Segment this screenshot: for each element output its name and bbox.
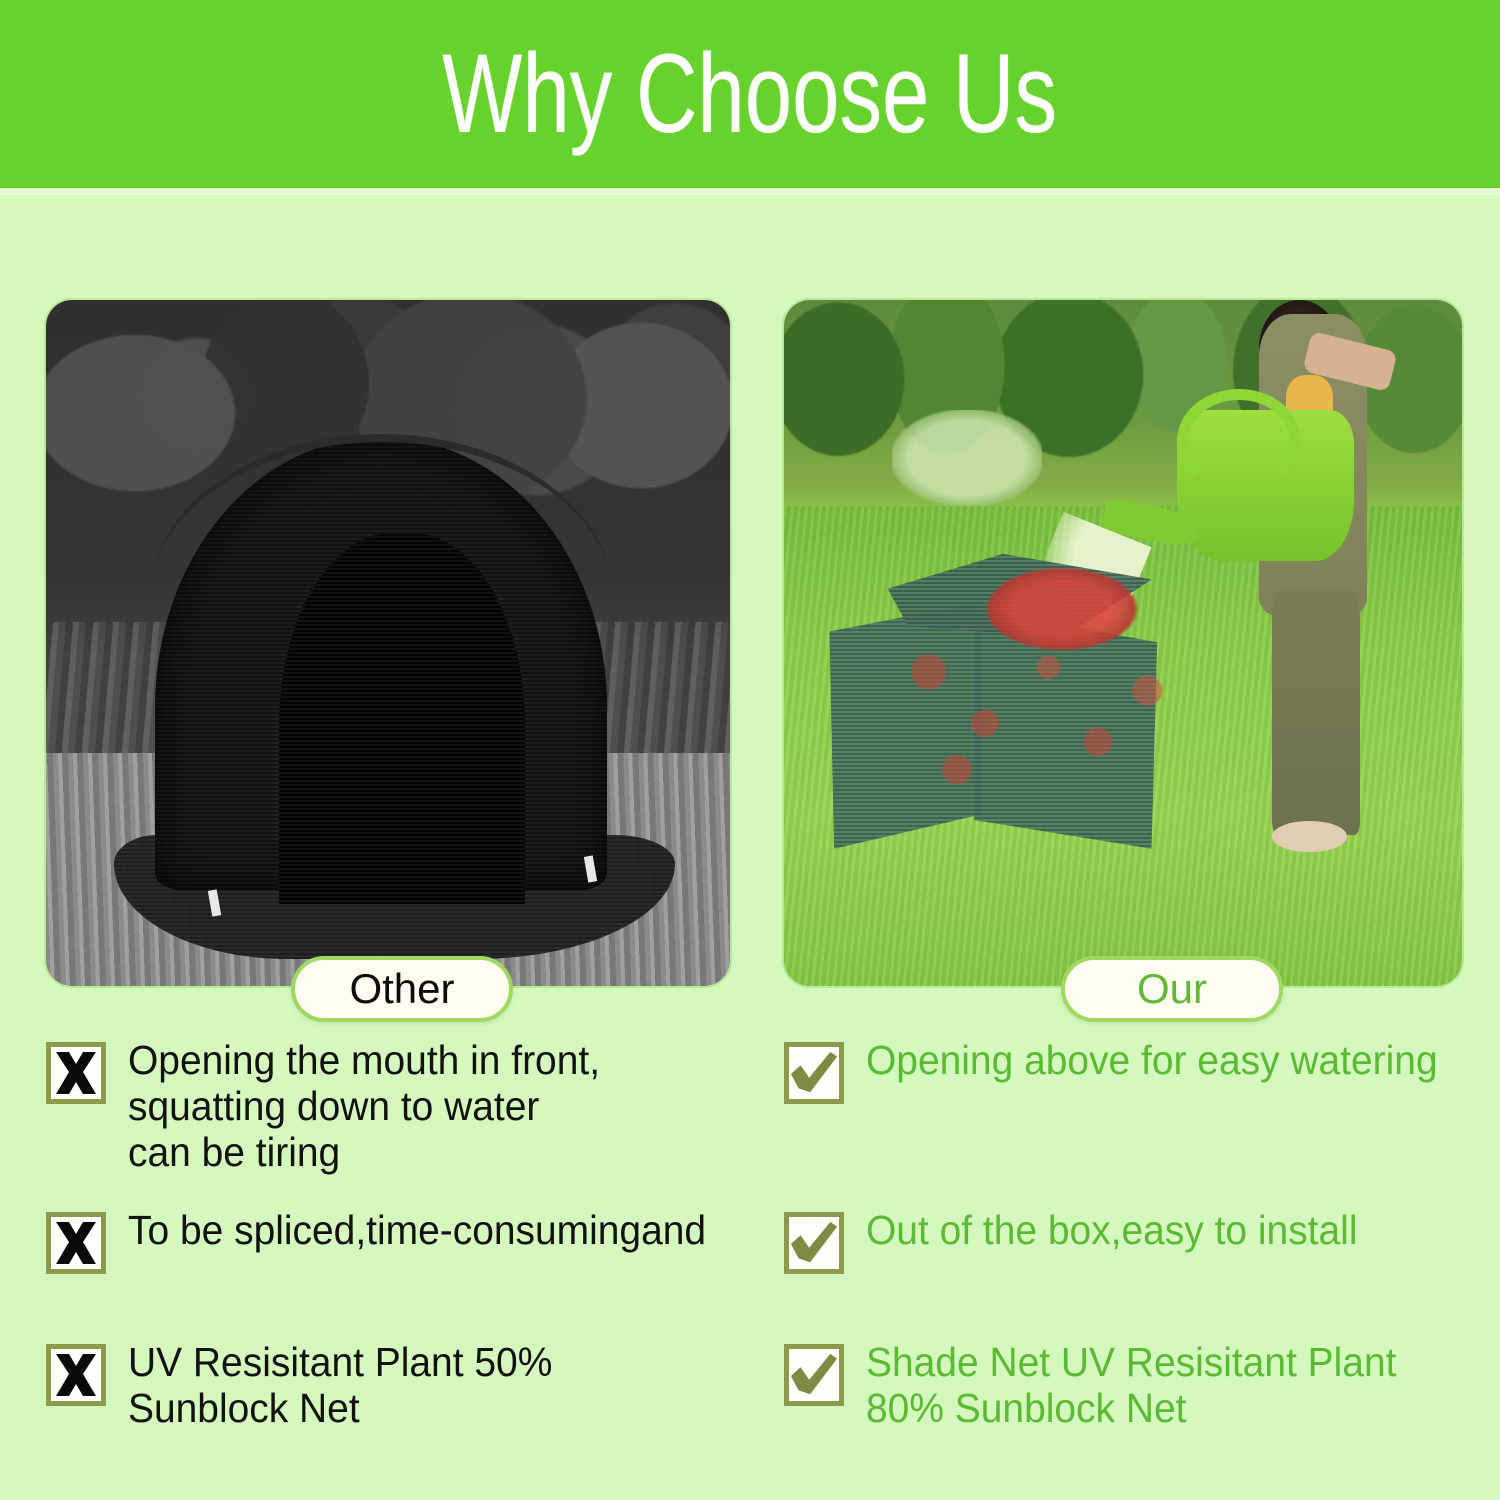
label-badge-our-text: Our <box>1137 968 1207 1010</box>
banner-underline <box>0 188 1500 195</box>
person-legs <box>1272 588 1360 835</box>
x-mark-icon <box>46 1212 106 1274</box>
x-mark-icon <box>46 1344 106 1406</box>
check-mark-icon <box>784 1344 844 1406</box>
feature-text: Out of the box,easy to install <box>866 1208 1357 1254</box>
check-mark-icon <box>784 1212 844 1274</box>
feature-text: Shade Net UV Resisitant Plant 80% Sunblo… <box>866 1340 1396 1432</box>
feature-text: To be spliced,time-consumingand <box>128 1208 706 1254</box>
feature-text: Opening the mouth in front, squatting do… <box>128 1038 600 1176</box>
watering-can-handle <box>1177 389 1301 493</box>
feature-row: UV Resisitant Plant 50% Sunblock Net <box>46 1340 575 1432</box>
label-badge-other-text: Other <box>349 968 454 1010</box>
label-badge-our: Our <box>1061 956 1283 1022</box>
feature-column-our: Opening above for easy watering Out of t… <box>784 1018 1484 1498</box>
feature-row: Shade Net UV Resisitant Plant 80% Sunblo… <box>784 1340 1424 1432</box>
feature-comparison: Opening the mouth in front, squatting do… <box>0 1018 1500 1498</box>
page-title: Why Choose Us <box>443 38 1058 150</box>
feature-row: To be spliced,time-consumingand <box>46 1208 737 1274</box>
feature-row: Opening above for easy watering <box>784 1038 1468 1104</box>
feature-text: Opening above for easy watering <box>866 1038 1438 1084</box>
feature-column-other: Opening the mouth in front, squatting do… <box>46 1018 766 1498</box>
header-banner: Why Choose Us <box>0 0 1500 188</box>
check-mark-icon <box>784 1042 844 1104</box>
photo-our-color <box>784 300 1462 986</box>
comparison-photo-our <box>784 300 1462 986</box>
infographic-page: Why Choose Us <box>0 0 1500 1500</box>
x-mark-icon <box>46 1042 106 1104</box>
strawberries-inside <box>974 561 1150 657</box>
feature-text: UV Resisitant Plant 50% Sunblock Net <box>128 1340 552 1432</box>
comparison-photo-other <box>46 300 730 986</box>
person-foot <box>1272 821 1347 852</box>
label-badge-other: Other <box>291 956 513 1022</box>
feature-row: Opening the mouth in front, squatting do… <box>46 1038 625 1176</box>
feature-row: Out of the box,easy to install <box>784 1208 1383 1274</box>
photo-other-grayscale <box>46 300 730 986</box>
flowering-bush <box>892 410 1041 506</box>
